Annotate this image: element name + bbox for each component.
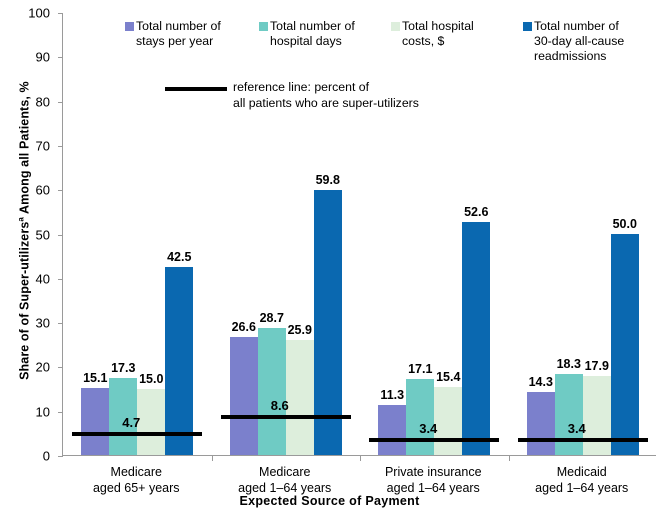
- legend: Total number ofstays per yearTotal numbe…: [125, 19, 645, 67]
- bar[interactable]: [286, 340, 314, 455]
- y-axis-tick-mark: [58, 279, 63, 280]
- x-axis-category-label-line: Medicare: [238, 464, 331, 480]
- legend-item[interactable]: Total number ofhospital days: [259, 19, 379, 49]
- bar[interactable]: [230, 337, 258, 455]
- bar[interactable]: [434, 387, 462, 455]
- bar[interactable]: [462, 222, 490, 455]
- bar[interactable]: [611, 234, 639, 456]
- bar-value-label: 18.3: [557, 357, 581, 371]
- x-axis-title: Expected Source of Payment: [0, 494, 659, 508]
- y-axis-tick-label: 100: [0, 6, 50, 21]
- y-axis-tick-label: 60: [0, 183, 50, 198]
- legend-reference-line: reference line: percent ofall patients w…: [165, 78, 495, 112]
- bar[interactable]: [378, 405, 406, 455]
- reference-line-value-label: 8.6: [271, 398, 289, 413]
- reference-line-value-label: 4.7: [122, 415, 140, 430]
- legend-item[interactable]: Total number ofstays per year: [125, 19, 245, 49]
- legend-item-label: Total hospital: [402, 19, 474, 33]
- x-axis-category-label: Private insuranceaged 1–64 years: [385, 464, 482, 496]
- y-axis-tick-label: 40: [0, 271, 50, 286]
- bar[interactable]: [258, 328, 286, 455]
- legend-swatch-icon: [391, 22, 400, 31]
- x-axis-category-label-line: Medicaid: [535, 464, 628, 480]
- bar-value-label: 17.9: [585, 359, 609, 373]
- bar-value-label: 11.3: [380, 388, 404, 402]
- x-axis-category-label-line: Medicare: [93, 464, 180, 480]
- bar-value-label: 15.4: [436, 370, 460, 384]
- reference-line-legend-line: reference line: percent of: [233, 79, 419, 95]
- y-axis-tick-label: 80: [0, 94, 50, 109]
- legend-swatch-icon: [523, 22, 532, 31]
- bar[interactable]: [555, 374, 583, 455]
- reference-line-swatch: [165, 87, 227, 91]
- y-axis-tick-mark: [58, 13, 63, 14]
- bar-value-label: 17.3: [111, 361, 135, 375]
- y-axis-tick-label: 20: [0, 360, 50, 375]
- y-axis-tick-label: 30: [0, 316, 50, 331]
- x-axis-category-label: Medicareaged 1–64 years: [238, 464, 331, 496]
- y-axis-tick-mark: [58, 456, 63, 457]
- reference-line: [369, 438, 499, 442]
- bar-value-label: 17.1: [408, 362, 432, 376]
- legend-item-label-line: stays per year: [136, 34, 245, 49]
- bar-value-label: 14.3: [529, 375, 553, 389]
- legend-item-label-line: 30-day all-cause: [534, 34, 643, 49]
- y-axis-tick-mark: [58, 146, 63, 147]
- bar-chart: Share of of Super-utilizersa Among all P…: [0, 0, 659, 518]
- x-axis-category-label: Medicareaged 65+ years: [93, 464, 180, 496]
- bar-value-label: 15.1: [83, 371, 107, 385]
- legend-item-label: Total number of: [534, 19, 619, 33]
- y-axis-tick-mark: [58, 190, 63, 191]
- reference-line-legend-text: reference line: percent ofall patients w…: [233, 79, 419, 111]
- x-axis-category-divider: [509, 455, 510, 461]
- legend-item-label-line: costs, $: [402, 34, 511, 49]
- y-axis-tick-mark: [58, 323, 63, 324]
- y-axis-tick-mark: [58, 235, 63, 236]
- bar-value-label: 25.9: [288, 323, 312, 337]
- reference-line-legend-line: all patients who are super-utilizers: [233, 95, 419, 111]
- x-axis-category-divider: [360, 455, 361, 461]
- legend-item-label: Total number of: [270, 19, 355, 33]
- x-axis-category-label: Medicaidaged 1–64 years: [535, 464, 628, 496]
- y-axis-tick-label: 50: [0, 227, 50, 242]
- y-axis-tick-labels: 1009080706050403020100: [0, 0, 58, 518]
- legend-swatch-icon: [259, 22, 268, 31]
- legend-item[interactable]: Total number of30-day all-causereadmissi…: [523, 19, 643, 64]
- legend-item-label: Total number of: [136, 19, 221, 33]
- x-axis-category-label-line: Private insurance: [385, 464, 482, 480]
- y-axis-tick-label: 90: [0, 50, 50, 65]
- y-axis-tick-mark: [58, 367, 63, 368]
- legend-item-label-line: readmissions: [534, 49, 643, 64]
- reference-line: [221, 415, 351, 419]
- bar[interactable]: [583, 376, 611, 455]
- x-axis-category-divider: [212, 455, 213, 461]
- y-axis-tick-mark: [58, 102, 63, 103]
- bar[interactable]: [406, 379, 434, 455]
- bar-value-label: 52.6: [464, 205, 488, 219]
- y-axis-tick-label: 70: [0, 138, 50, 153]
- y-axis-tick-label: 0: [0, 449, 50, 464]
- bar[interactable]: [165, 267, 193, 455]
- bar[interactable]: [527, 392, 555, 455]
- reference-line-value-label: 3.4: [568, 421, 586, 436]
- legend-item[interactable]: Total hospitalcosts, $: [391, 19, 511, 49]
- y-axis-tick-label: 10: [0, 404, 50, 419]
- legend-item-label-line: hospital days: [270, 34, 379, 49]
- bar[interactable]: [81, 388, 109, 455]
- y-axis-tick-mark: [58, 57, 63, 58]
- bar-value-label: 15.0: [139, 372, 163, 386]
- bar-value-label: 50.0: [613, 217, 637, 231]
- bar-value-label: 28.7: [260, 311, 284, 325]
- bar-value-label: 26.6: [232, 320, 256, 334]
- reference-line-value-label: 3.4: [419, 421, 437, 436]
- bar[interactable]: [137, 389, 165, 455]
- reference-line: [72, 432, 202, 436]
- reference-line: [518, 438, 648, 442]
- y-axis-tick-mark: [58, 412, 63, 413]
- legend-swatch-icon: [125, 22, 134, 31]
- bar-value-label: 59.8: [316, 173, 340, 187]
- bar-value-label: 42.5: [167, 250, 191, 264]
